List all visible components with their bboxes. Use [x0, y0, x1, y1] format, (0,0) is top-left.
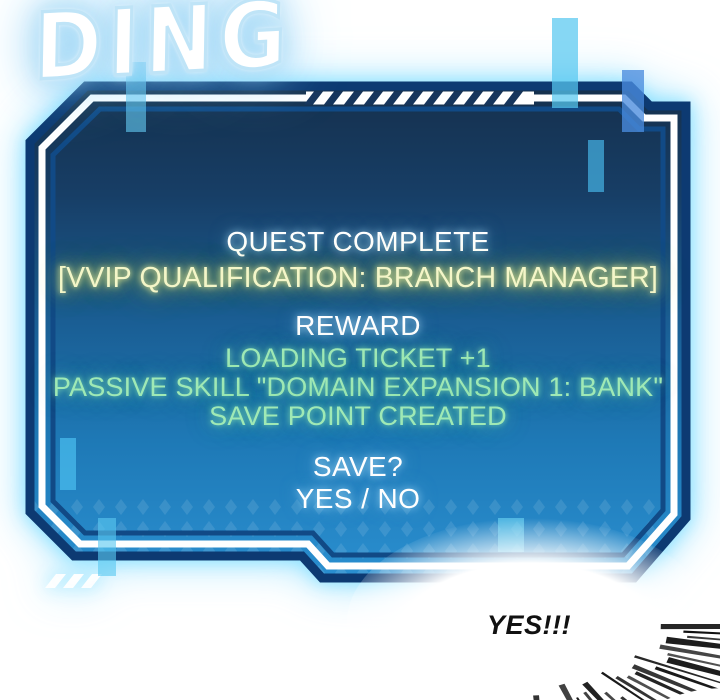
decor-chip-top-right-1 — [552, 18, 578, 108]
top-hatch-band — [304, 92, 534, 105]
comic-panel-scene: DING — [0, 0, 720, 700]
decor-chip-top-right-2 — [622, 70, 644, 132]
ding-sound-effect-text: DING — [33, 0, 293, 102]
impact-burst — [332, 506, 720, 700]
decor-chip-right-inner — [588, 140, 604, 192]
speed-lines-graphic — [332, 506, 720, 700]
decor-chip-left-inner — [60, 438, 76, 490]
decor-chip-bottom-left — [98, 518, 116, 576]
bottom-hatch-accents — [45, 574, 102, 588]
